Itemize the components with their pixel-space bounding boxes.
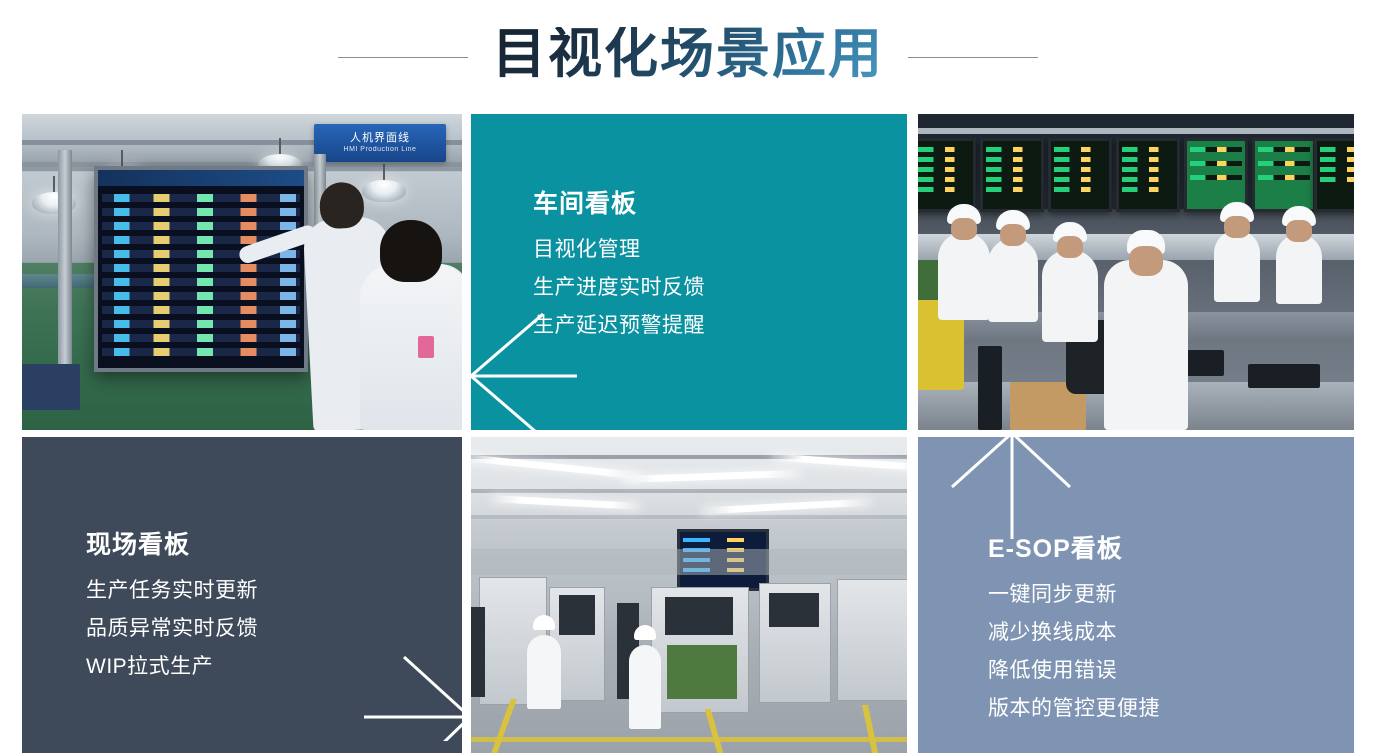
panel-background: E-SOP看板 一键同步更新 减少换线成本 降低使用错误 版本的管控更便捷 [918,437,1354,753]
line-monitor [980,138,1044,212]
panel-line: 减少换线成本 [988,622,1160,643]
panel-workshop-board: 车间看板 目视化管理 生产进度实时反馈 生产延迟预警提醒 [471,114,907,430]
worker-figure [1042,250,1098,342]
line-monitor [1314,138,1354,212]
panel-background: 车间看板 目视化管理 生产进度实时反馈 生产延迟预警提醒 [471,114,907,430]
photo-factory-hall [471,437,907,753]
panel-text-block: E-SOP看板 一键同步更新 减少换线成本 降低使用错误 版本的管控更便捷 [988,537,1160,719]
panel-background: 现场看板 生产任务实时更新 品质异常实时反馈 WIP拉式生产 [22,437,462,753]
worker-figure [360,264,462,430]
panel-onsite-board: 现场看板 生产任务实时更新 品质异常实时反馈 WIP拉式生产 [22,437,462,753]
panel-title: E-SOP看板 [988,537,1160,562]
led-production-board [94,166,308,372]
line-monitor [918,138,976,212]
panel-line: 降低使用错误 [988,660,1160,681]
photo-image [918,114,1354,430]
arrow-right-icon [364,617,462,741]
page-header: 目视化场景应用 [0,0,1376,114]
panel-text-block: 车间看板 目视化管理 生产进度实时反馈 生产延迟预警提醒 [533,192,705,336]
line-monitor [1184,138,1248,212]
panel-line: 版本的管控更便捷 [988,698,1160,719]
photo-image [471,437,907,753]
title-rule-left [338,57,468,58]
photo-assembly-line-monitors [918,114,1354,430]
line-monitor [1048,138,1112,212]
worker-figure [1214,230,1260,302]
panel-line: 一键同步更新 [988,584,1160,605]
panel-line: 生产任务实时更新 [86,580,258,601]
panel-esop-board: E-SOP看板 一键同步更新 减少换线成本 降低使用错误 版本的管控更便捷 [918,437,1354,753]
worker-figure [527,635,561,709]
panel-line: 生产进度实时反馈 [533,277,705,298]
scenario-grid: 人机界面线 HMI Production Line [22,114,1354,753]
panel-line: 品质异常实时反馈 [86,618,258,639]
photo-led-dashboard-line: 人机界面线 HMI Production Line [22,114,462,430]
page-title: 目视化场景应用 [492,27,884,87]
title-rule-right [908,57,1038,58]
worker-figure [1104,260,1188,430]
panel-text-block: 现场看板 生产任务实时更新 品质异常实时反馈 WIP拉式生产 [86,533,258,677]
worker-figure [938,232,990,320]
signboard-line2: HMI Production Line [344,146,417,155]
signboard-line1: 人机界面线 [350,132,410,146]
worker-figure [1276,234,1322,304]
worker-figure [988,238,1038,322]
line-signboard: 人机界面线 HMI Production Line [314,124,446,162]
panel-line: 目视化管理 [533,239,705,260]
arrow-up-icon [948,437,1076,547]
panel-line: WIP拉式生产 [86,656,258,677]
panel-line: 生产延迟预警提醒 [533,315,705,336]
worker-figure [629,645,661,729]
panel-title: 现场看板 [86,533,258,558]
panel-title: 车间看板 [533,192,705,217]
line-monitor [1252,138,1316,212]
line-monitor [1116,138,1180,212]
photo-image: 人机界面线 HMI Production Line [22,114,462,430]
ceiling-lamp-icon [362,180,406,202]
